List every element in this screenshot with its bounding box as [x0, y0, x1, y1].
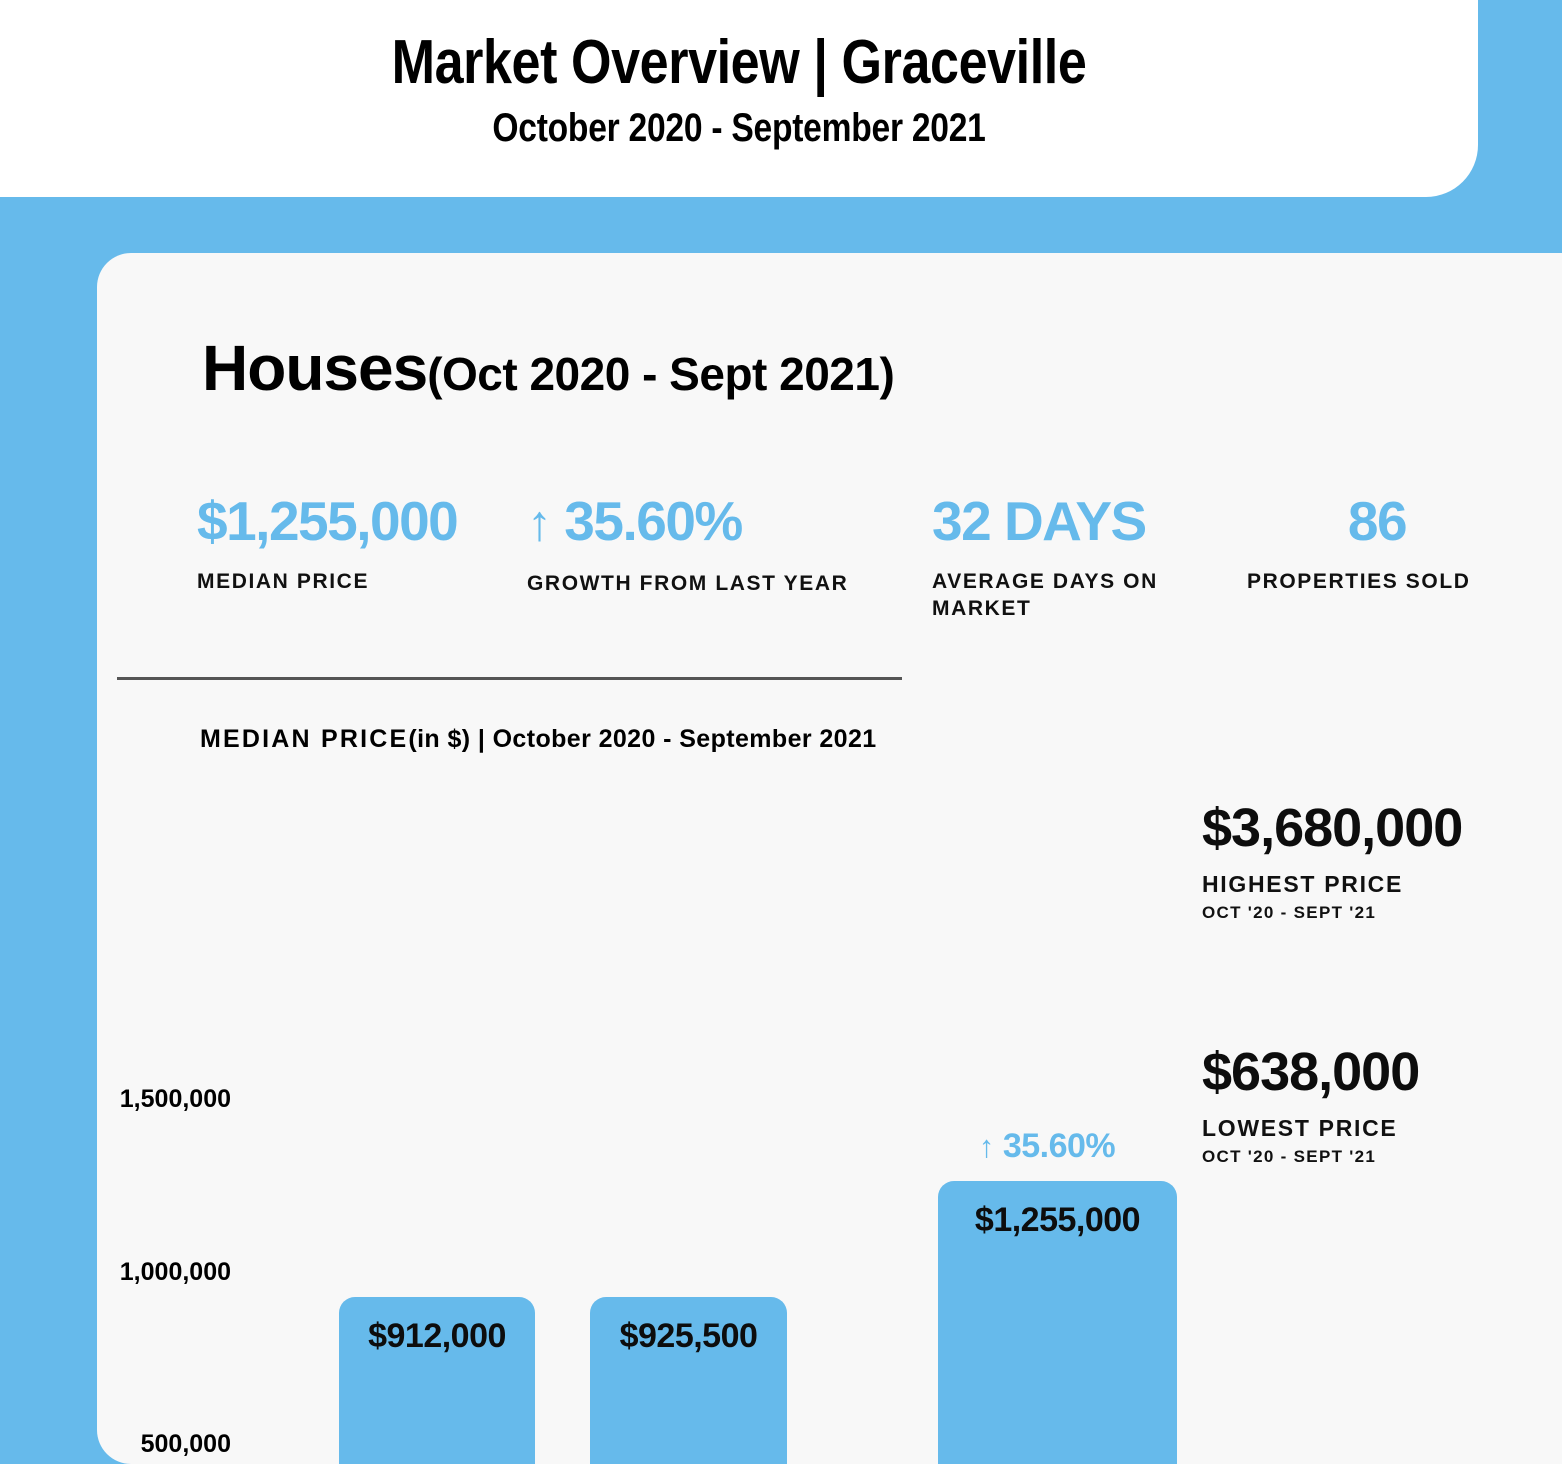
infographic-root: Market Overview | Graceville October 202… — [0, 0, 1562, 1464]
bar-growth-value: 35.60% — [1003, 1127, 1115, 1165]
kpi-growth-label: GROWTH FROM LAST YEAR — [527, 570, 857, 597]
bar-value-label: $1,255,000 — [938, 1201, 1177, 1240]
section-heading: Houses(Oct 2020 - Sept 2021) — [202, 331, 894, 405]
kpi-sold-label: PROPERTIES SOLD — [1247, 568, 1507, 595]
bar-growth-annotation: ↑ 35.60% — [917, 1127, 1177, 1166]
y-axis: 1,500,000 1,000,000 500,000 0 — [97, 793, 232, 1393]
chart-title-separator: | — [470, 725, 492, 753]
highest-price-block: $3,680,000 HIGHEST PRICE OCT '20 - SEPT … — [1202, 799, 1462, 923]
lowest-price-label: LOWEST PRICE — [1202, 1115, 1419, 1142]
lowest-price-block: $638,000 LOWEST PRICE OCT '20 - SEPT '21 — [1202, 1043, 1419, 1167]
kpi-value: 32 DAYS — [932, 490, 1182, 552]
kpi-sold-value: 86 — [1348, 490, 1406, 552]
header-panel: Market Overview | Graceville October 202… — [0, 0, 1478, 197]
kpi-growth: ↑ 35.60% GROWTH FROM LAST YEAR — [527, 490, 857, 597]
highest-price-label: HIGHEST PRICE — [1202, 871, 1462, 898]
kpi-median-price-label: MEDIAN PRICE — [197, 568, 527, 595]
kpi-days-on-market: 32 DAYS AVERAGE DAYS ON MARKET — [932, 490, 1182, 622]
bar-oct19-sept20[interactable]: $925,500 — [590, 1297, 787, 1464]
median-price-bar-chart: 1,500,000 1,000,000 500,000 0 $912,000 O… — [97, 793, 1197, 1393]
arrow-up-icon: ↑ — [527, 495, 551, 551]
y-tick-1000000: 1,000,000 — [120, 1258, 231, 1287]
y-tick-500000: 500,000 — [141, 1430, 231, 1459]
lowest-price-period: OCT '20 - SEPT '21 — [1202, 1147, 1419, 1167]
kpi-growth-value: 35.60% — [564, 490, 742, 552]
section-divider — [117, 677, 902, 680]
bar-oct18-sept19[interactable]: $912,000 — [339, 1297, 535, 1464]
highest-price-period: OCT '20 - SEPT '21 — [1202, 903, 1462, 923]
kpi-median-price: $1,255,000 MEDIAN PRICE — [197, 490, 527, 595]
kpi-days-value: 32 DAYS — [932, 490, 1146, 552]
bar-value-label: $925,500 — [590, 1317, 787, 1356]
kpi-value: $1,255,000 — [197, 490, 527, 552]
chart-title-metric: MEDIAN PRICE — [200, 725, 408, 753]
kpi-median-price-value: $1,255,000 — [197, 490, 457, 552]
y-tick-1500000: 1,500,000 — [120, 1085, 231, 1114]
page-title: Market Overview | Graceville — [118, 27, 1360, 98]
page-subtitle: October 2020 - September 2021 — [118, 106, 1360, 151]
chart-title-range: October 2020 - September 2021 — [493, 725, 877, 753]
lowest-price-amount: $638,000 — [1202, 1043, 1419, 1101]
highest-price-amount: $3,680,000 — [1202, 799, 1462, 857]
kpi-days-label: AVERAGE DAYS ON MARKET — [932, 568, 1182, 622]
kpi-value: ↑ 35.60% — [527, 490, 857, 554]
section-title: Houses — [202, 332, 427, 404]
bar-oct20-sept21[interactable]: $1,255,000 — [938, 1181, 1177, 1464]
chart-title: MEDIAN PRICE(in $) | October 2020 - Sept… — [200, 725, 877, 754]
bar-value-label: $912,000 — [339, 1317, 535, 1356]
section-period: (Oct 2020 - Sept 2021) — [427, 348, 894, 400]
kpi-value: 86 — [1247, 490, 1507, 552]
kpi-properties-sold: 86 PROPERTIES SOLD — [1247, 490, 1507, 595]
chart-title-unit: (in $) — [408, 725, 470, 753]
chart-plot-area: $912,000 Oct '18 - Sept '19 $925,500 Oct… — [242, 793, 1192, 1363]
arrow-up-icon: ↑ — [979, 1129, 994, 1164]
houses-card: Houses(Oct 2020 - Sept 2021) $1,255,000 … — [97, 253, 1562, 1464]
kpi-stats-row: $1,255,000 MEDIAN PRICE ↑ 35.60% GROWTH … — [197, 490, 1557, 620]
